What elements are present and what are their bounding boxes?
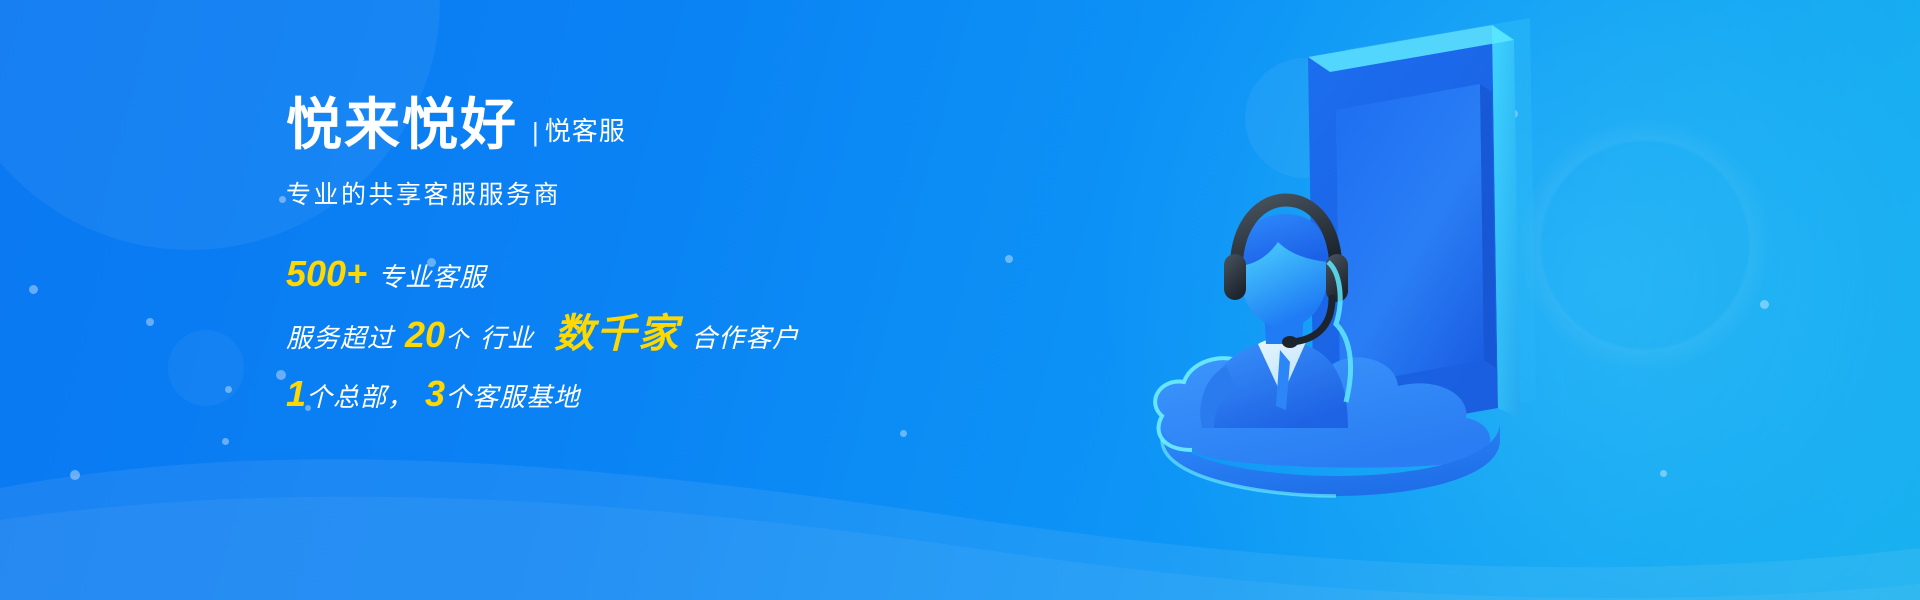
decorative-dot — [29, 285, 38, 294]
stat-label: 服务超过 — [286, 323, 394, 353]
stat-value: 1 — [286, 373, 306, 414]
stat-value: 3 — [425, 373, 445, 414]
stat-label: 合作客户 — [691, 323, 799, 353]
decorative-dot — [279, 196, 286, 203]
stat-line-staff: 500+专业客服 — [286, 256, 1026, 292]
headset-agent — [1200, 200, 1350, 428]
brand-title-row: 悦来悦好 | 悦客服 — [286, 96, 1026, 155]
stat-label: 个客服基地 — [445, 382, 580, 412]
stat-label: 行业 — [480, 323, 534, 353]
brand-subtitle: 悦客服 — [545, 111, 626, 148]
decorative-dot — [900, 430, 907, 437]
stat-line-industries: 服务超过20个行业数千家合作客户 — [286, 314, 1026, 354]
stats-list: 500+专业客服 服务超过20个行业数千家合作客户 1个总部，3个客服基地 — [286, 256, 1026, 412]
stat-value: 20 — [405, 314, 445, 355]
banner-content: 悦来悦好 | 悦客服 专业的共享客服服务商 500+专业客服 服务超过20个行业… — [286, 96, 1026, 412]
tagline: 专业的共享客服服务商 — [286, 175, 1026, 211]
stat-label: 专业客服 — [378, 262, 486, 292]
decorative-dot — [146, 318, 154, 326]
decorative-dot — [225, 386, 232, 393]
stat-unit: 个 — [445, 326, 469, 352]
stat-line-locations: 1个总部，3个客服基地 — [286, 376, 1026, 412]
decorative-dot — [1660, 470, 1667, 477]
decorative-dot — [276, 370, 286, 380]
decorative-dot — [222, 438, 229, 445]
decorative-dot — [1760, 300, 1769, 309]
decorative-dot — [70, 470, 80, 480]
page-title: 悦来悦好 — [286, 96, 518, 155]
promo-banner: 悦来悦好 | 悦客服 专业的共享客服服务商 500+专业客服 服务超过20个行业… — [0, 0, 1920, 600]
decorative-circle-medium — [168, 330, 244, 406]
title-separator: | — [532, 117, 539, 148]
isometric-customer-service-illustration — [1140, 10, 1660, 530]
stat-value: 500+ — [286, 253, 367, 294]
stat-label: 个总部， — [306, 382, 414, 412]
stat-value-highlight: 数千家 — [554, 312, 680, 356]
